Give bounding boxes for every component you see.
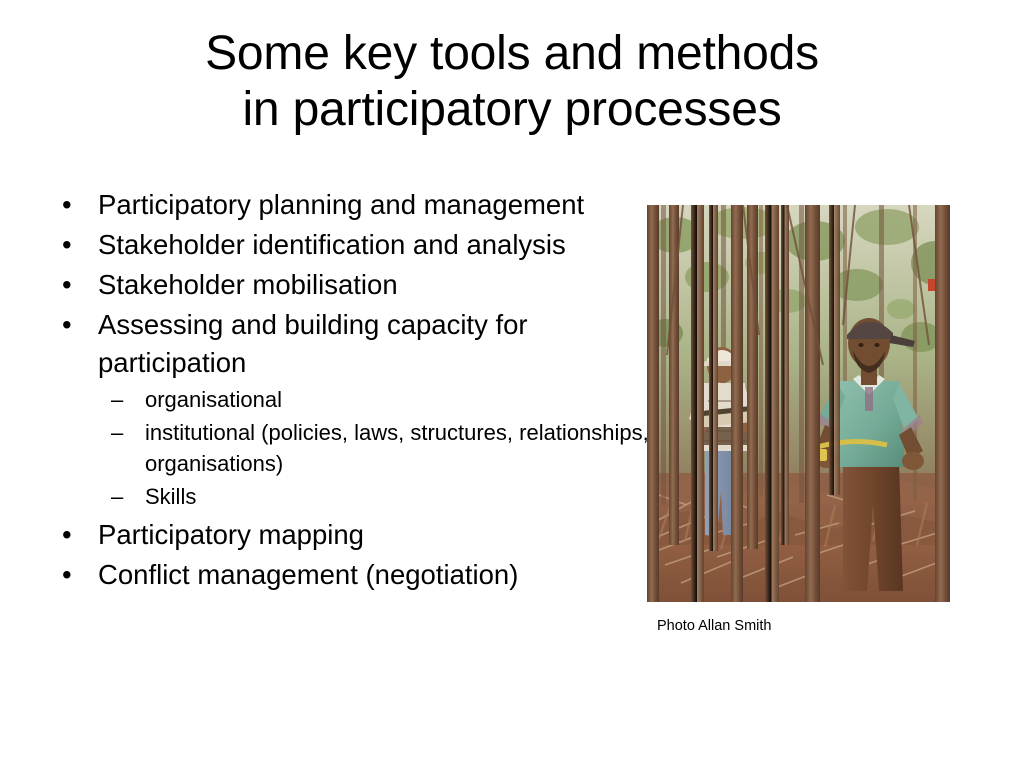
bullet-dot-icon: • — [62, 186, 82, 224]
sub-list-item-label: Skills — [145, 484, 196, 509]
sub-list-item: – institutional (policies, laws, structu… — [56, 417, 656, 479]
bullet-list: • Participatory planning and management … — [56, 186, 656, 596]
sub-list-item-label: organisational — [145, 387, 282, 412]
sub-list-item: – organisational — [56, 384, 656, 415]
forest-inventory-photo — [647, 205, 950, 602]
bullet-dot-icon: • — [62, 516, 82, 554]
list-item-label: Participatory planning and management — [98, 189, 584, 220]
slide-canvas: Some key tools and methods in participat… — [0, 0, 1024, 768]
title-line-1: Some key tools and methods — [60, 26, 964, 82]
bullet-dot-icon: • — [62, 226, 82, 264]
list-item-label: Conflict management (negotiation) — [98, 559, 518, 590]
bullet-dash-icon: – — [111, 384, 135, 415]
title-line-2: in participatory processes — [60, 82, 964, 138]
list-item: • Participatory mapping — [56, 516, 656, 554]
photo-caption: Photo Allan Smith — [657, 617, 771, 635]
bullet-dot-icon: • — [62, 556, 82, 594]
page-title: Some key tools and methods in participat… — [60, 26, 964, 137]
sub-list-item-label: institutional (policies, laws, structure… — [145, 420, 649, 476]
list-item-label: Assessing and building capacity for part… — [98, 309, 528, 378]
sub-list-item: – Skills — [56, 481, 656, 512]
bullet-dash-icon: – — [111, 481, 135, 512]
list-item-label: Stakeholder identification and analysis — [98, 229, 566, 260]
sub-bullet-group: – organisational – institutional (polici… — [56, 384, 656, 512]
list-item: • Assessing and building capacity for pa… — [56, 306, 656, 382]
bullet-dot-icon: • — [62, 306, 82, 344]
list-item-label: Stakeholder mobilisation — [98, 269, 398, 300]
bullet-dot-icon: • — [62, 266, 82, 304]
list-item: • Stakeholder mobilisation — [56, 266, 656, 304]
list-item: • Participatory planning and management — [56, 186, 656, 224]
photo-illustration — [647, 205, 950, 602]
list-item-label: Participatory mapping — [98, 519, 364, 550]
list-item: • Conflict management (negotiation) — [56, 556, 656, 594]
bullet-dash-icon: – — [111, 417, 135, 448]
list-item: • Stakeholder identification and analysi… — [56, 226, 656, 264]
